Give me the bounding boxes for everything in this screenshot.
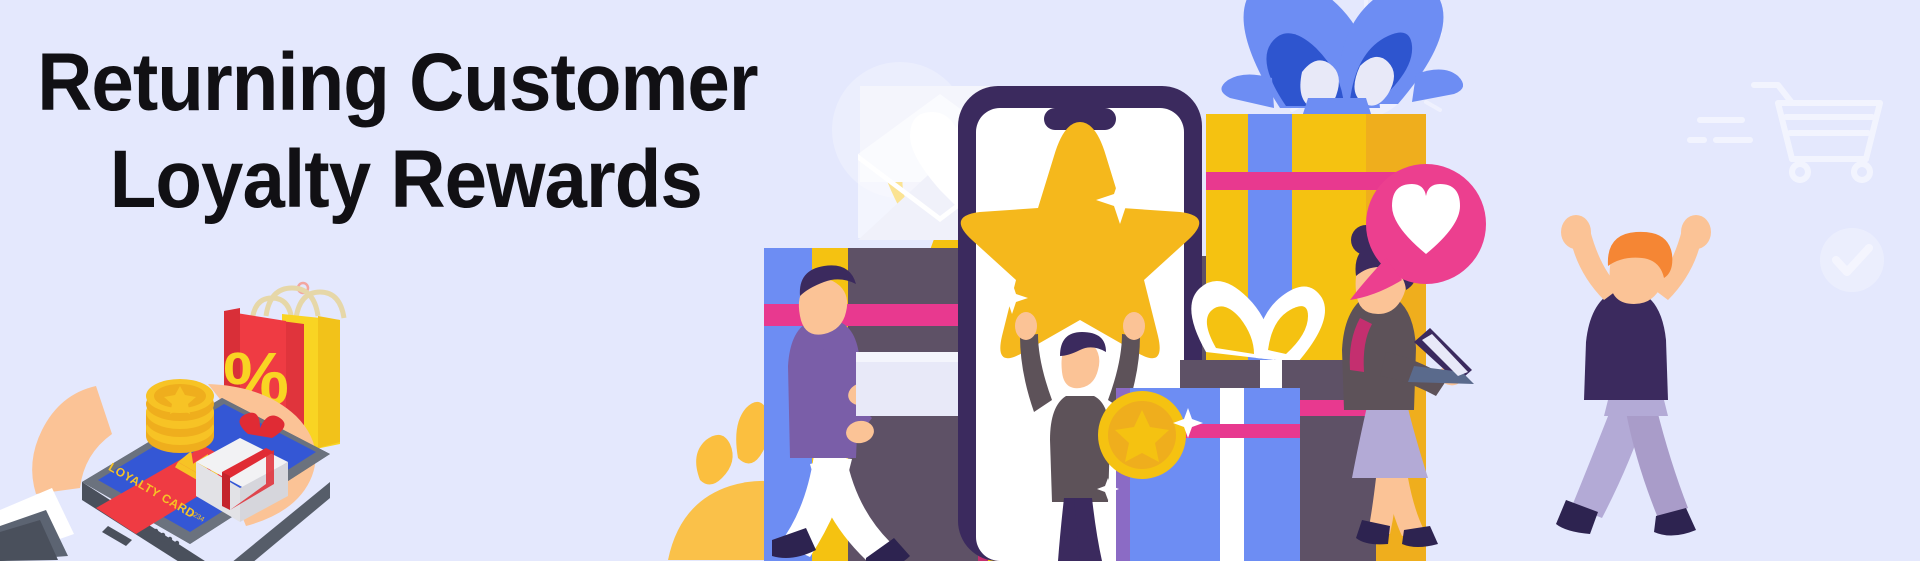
loyalty-rewards-banner: % (0, 0, 1920, 561)
suit-sleeve (0, 488, 74, 561)
coin-stack (146, 379, 214, 453)
rewards-illustration (660, 0, 1920, 561)
person-cheering (1556, 215, 1711, 536)
loyalty-card-illustration: % (0, 226, 340, 561)
